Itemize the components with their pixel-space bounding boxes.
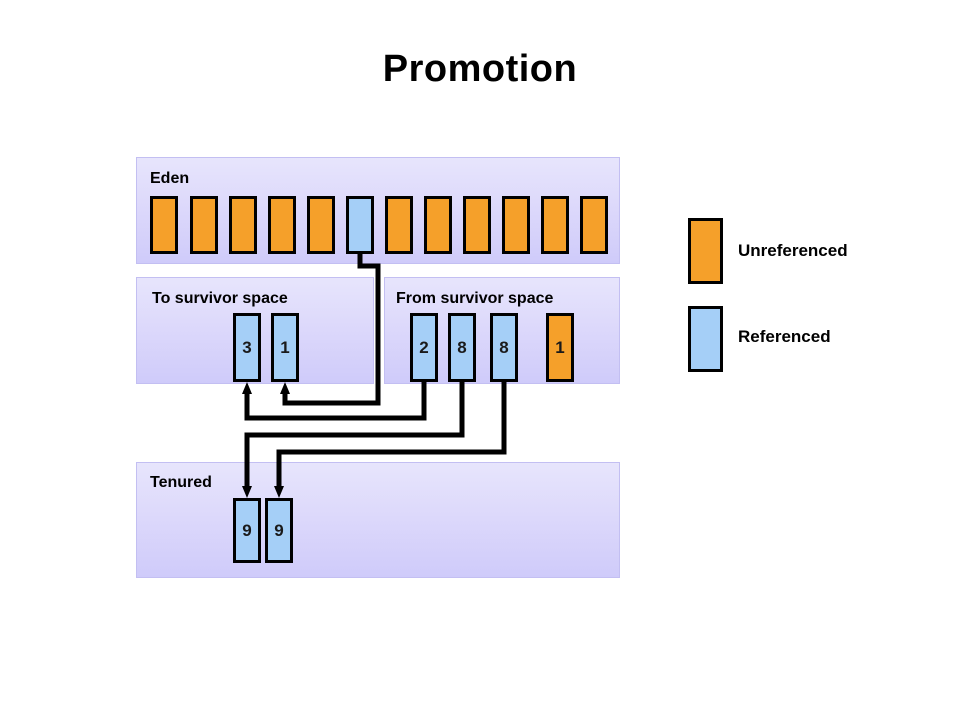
arrow-eden-to-survivor (285, 254, 378, 403)
legend-swatch-unreferenced (688, 218, 723, 284)
slide-canvas: Promotion Eden To survivor space 3 1 Fro… (0, 0, 960, 720)
arrow-from3-to-tenured-head (274, 486, 284, 498)
arrow-from2-to-tenured-head (242, 486, 252, 498)
legend-swatch-referenced (688, 306, 723, 372)
arrow-from1-to-survivor (247, 382, 424, 418)
arrow-from1-to-survivor-head (242, 382, 252, 394)
connector-arrows (0, 0, 960, 720)
legend-label-referenced: Referenced (738, 327, 831, 347)
legend-label-unreferenced: Unreferenced (738, 241, 848, 261)
arrow-eden-to-survivor-head (280, 382, 290, 394)
